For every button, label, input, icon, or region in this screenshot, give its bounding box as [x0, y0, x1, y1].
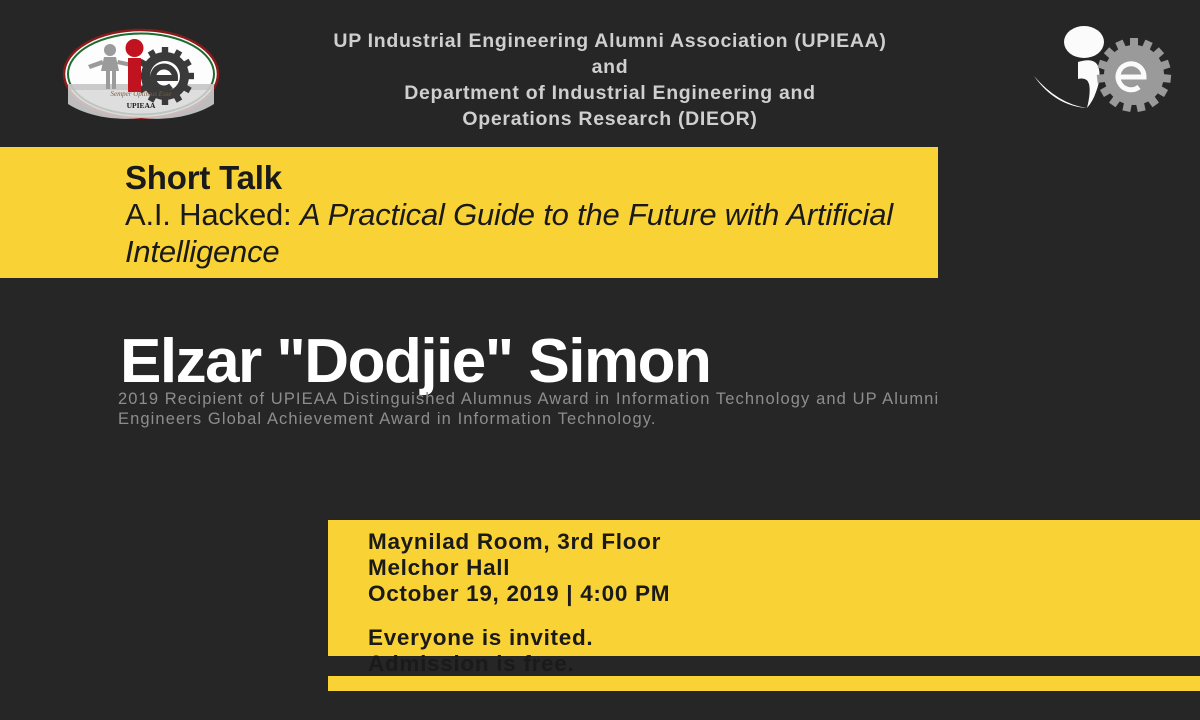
speaker-name: Elzar "Dodjie" Simon [120, 328, 710, 396]
logo-acronym: UPIEAA [127, 101, 156, 110]
venue-building: Melchor Hall [368, 555, 670, 581]
invitation-note: Everyone is invited. [368, 625, 670, 651]
upieaa-oval-logo: Semper Optimus Esse UPIEAA [62, 28, 220, 120]
logo-tagline: Semper Optimus Esse [110, 90, 171, 98]
organizer-line-3: Department of Industrial Engineering and [215, 80, 1005, 106]
event-poster: Semper Optimus Esse UPIEAA UP Industrial… [0, 0, 1200, 720]
dieor-ie-gear-logo [1022, 20, 1182, 120]
talk-kicker-label: Short Talk [125, 159, 282, 197]
poster-header: Semper Optimus Esse UPIEAA UP Industrial… [0, 0, 1200, 140]
venue-room: Maynilad Room, 3rd Floor [368, 529, 670, 555]
bottom-accent-stripe [328, 676, 1200, 691]
venue-datetime: October 19, 2019 | 4:00 PM [368, 581, 670, 607]
admission-note: Admission is free. [368, 651, 670, 677]
organizer-names: UP Industrial Engineering Alumni Associa… [215, 28, 1005, 132]
talk-title-text: A.I. Hacked: A Practical Guide to the Fu… [125, 196, 925, 270]
talk-title-plain: A.I. Hacked: [125, 197, 300, 232]
organizer-line-4: Operations Research (DIEOR) [215, 106, 1005, 132]
speaker-credentials: 2019 Recipient of UPIEAA Distinguished A… [118, 390, 968, 429]
venue-details-text: Maynilad Room, 3rd Floor Melchor Hall Oc… [368, 529, 670, 677]
venue-spacer [368, 607, 670, 625]
organizer-line-1: UP Industrial Engineering Alumni Associa… [215, 28, 1005, 54]
organizer-line-2: and [215, 54, 1005, 80]
